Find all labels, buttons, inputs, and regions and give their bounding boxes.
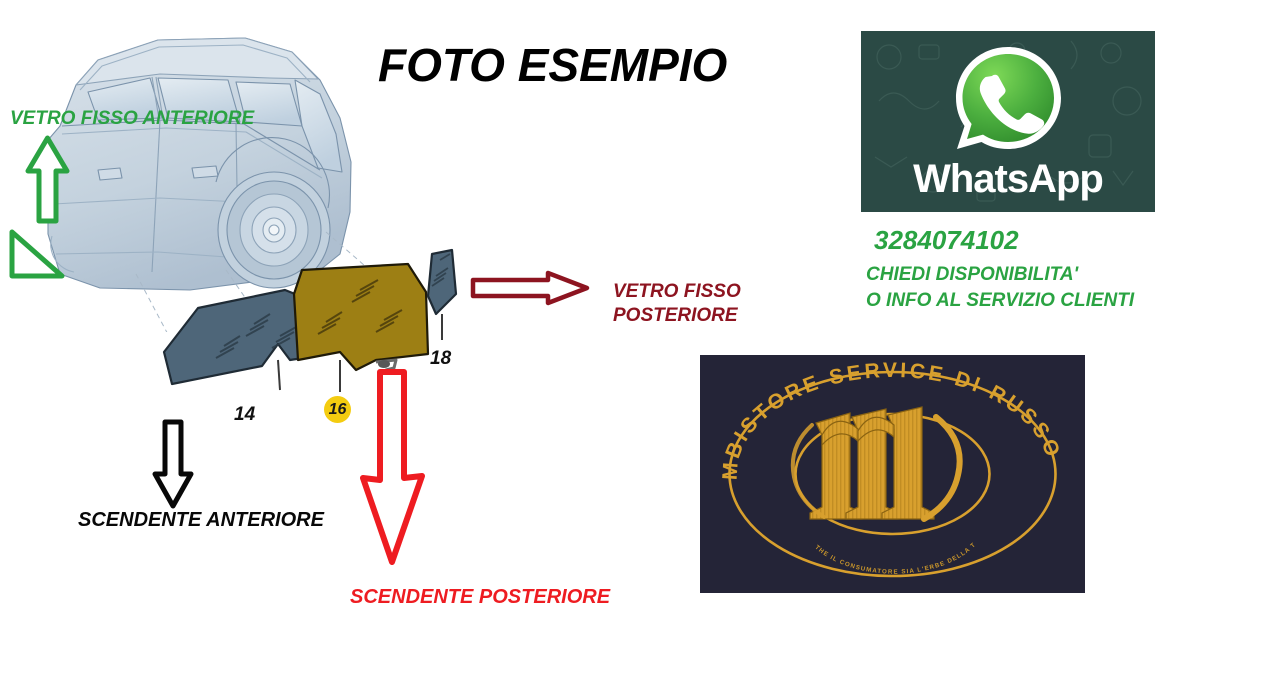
part-number-18: 18 (430, 348, 451, 370)
label-scendente-anteriore: SCENDENTE ANTERIORE (78, 509, 324, 533)
poster-canvas: FOTO ESEMPIO VETRO FISSO ANTERIORE (0, 0, 1264, 678)
shop-logo-banner: MRICAMBISTORE SERVICE DI RUSSO MARCO BE … (700, 355, 1085, 593)
glass-part-18 (428, 250, 456, 340)
label-vetro-fisso-posteriore: VETRO FISSO POSTERIORE (613, 280, 741, 329)
black-down-arrow-icon (152, 418, 194, 510)
green-triangle-icon (8, 228, 66, 280)
exploded-glass-parts (150, 248, 480, 438)
contact-line-1: CHIEDI DISPONIBILITA' (866, 264, 1078, 286)
part-number-badge-16: 16 (324, 396, 351, 423)
whatsapp-icon (949, 43, 1067, 155)
label-scendente-posteriore: SCENDENTE POSTERIORE (350, 586, 610, 610)
part-number-14: 14 (234, 404, 255, 426)
whatsapp-wordmark: WhatsApp (861, 157, 1155, 202)
contact-line-2: O INFO AL SERVIZIO CLIENTI (866, 290, 1134, 312)
glass-part-14 (164, 290, 316, 390)
label-vetro-fisso-anteriore: VETRO FISSO ANTERIORE (10, 108, 254, 130)
red-down-arrow-icon (358, 368, 426, 568)
label-vetro-fisso-posteriore-line2: POSTERIORE (613, 304, 741, 328)
green-up-arrow-icon (25, 135, 70, 225)
dark-red-right-arrow-icon (470, 270, 590, 306)
contact-phone-number[interactable]: 3284074102 (874, 225, 1019, 256)
shop-logo-monogram (810, 407, 934, 519)
label-vetro-fisso-posteriore-line1: VETRO FISSO (613, 280, 741, 304)
whatsapp-banner[interactable]: WhatsApp (861, 31, 1155, 212)
page-title: FOTO ESEMPIO (378, 38, 798, 92)
shop-logo-graphic: MRICAMBISTORE SERVICE DI RUSSO MARCO BE … (700, 355, 1085, 593)
